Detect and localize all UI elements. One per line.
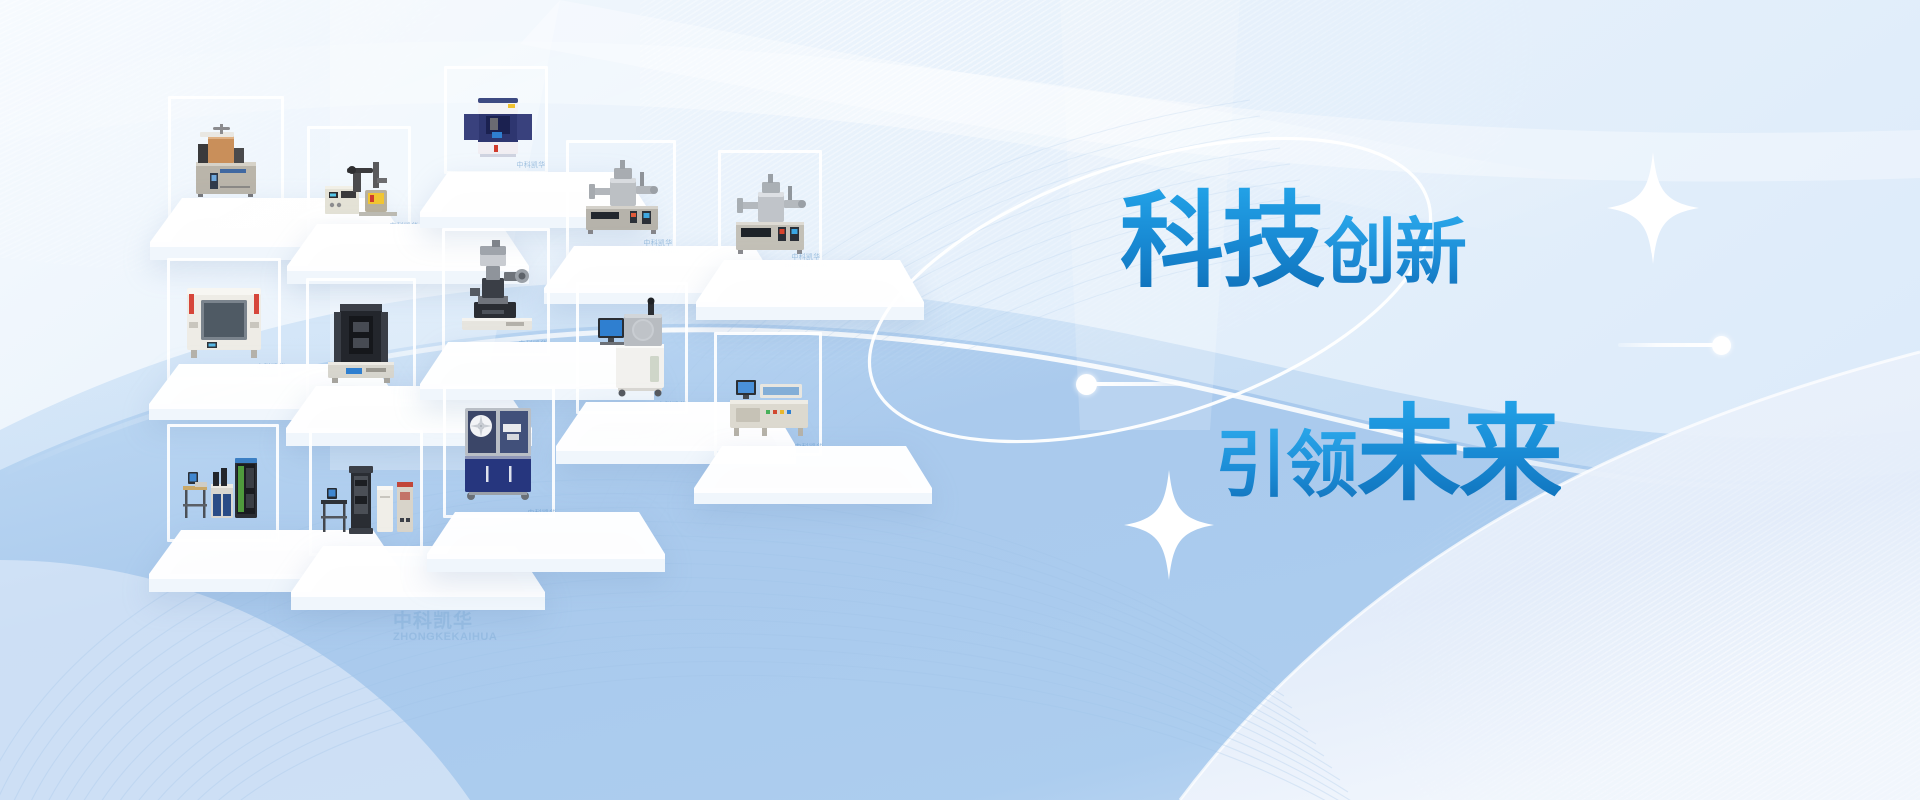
slogan-line-2: 引领未来 xyxy=(1215,403,1561,507)
product-image xyxy=(452,238,542,338)
slogan-line-2-lead: 引领 xyxy=(1215,426,1357,506)
product-image xyxy=(177,446,269,532)
pedestal xyxy=(419,504,665,580)
product-image xyxy=(453,400,545,506)
product-image xyxy=(586,296,678,400)
product-image xyxy=(319,150,401,222)
slogan-line-1: 科技创新 xyxy=(1120,190,1466,294)
pedestal xyxy=(686,438,932,512)
product-image xyxy=(184,118,268,200)
product-stand[interactable]: 中科凯华 ZHONGKEKAIHUA xyxy=(686,332,932,512)
product-image xyxy=(578,154,666,238)
slogan-line-1-tail: 创新 xyxy=(1324,213,1466,293)
product-image xyxy=(318,296,404,388)
product-image xyxy=(317,456,415,546)
slogan-line-2-tail: 未来 xyxy=(1357,397,1561,513)
slogan-line-1-lead: 科技 xyxy=(1120,184,1324,300)
product-image xyxy=(177,274,271,366)
slogan-block: 科技创新 引领未来 xyxy=(1105,175,1785,575)
hero-banner: 中科凯华 ZHONGKEKAIHUA xyxy=(0,0,1920,800)
product-image xyxy=(722,354,814,442)
product-image xyxy=(456,88,536,160)
product-image xyxy=(728,170,812,256)
product-stand[interactable]: 中科凯华 ZHONGKEKAIHUA xyxy=(419,386,665,580)
